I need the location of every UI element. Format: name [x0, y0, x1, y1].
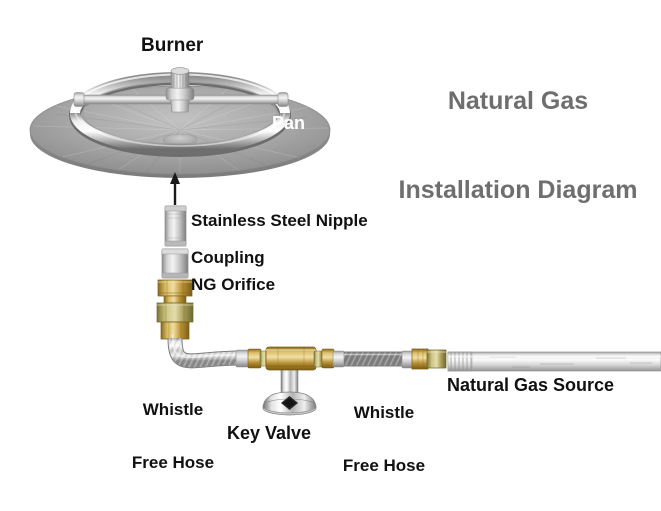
- label-whistle-free-hose-right: Whistle Free Hose: [330, 368, 438, 511]
- label-hose-left-line-2: Free Hose: [118, 454, 228, 472]
- label-pan: Pan: [272, 113, 305, 134]
- key-valve-graphic: [263, 347, 316, 415]
- label-coupling: Coupling: [191, 249, 265, 267]
- whistle-free-hose-right-graphic: [314, 349, 446, 369]
- label-hose-right-line-1: Whistle: [330, 404, 438, 422]
- natural-gas-source-pipe-graphic: [448, 352, 661, 371]
- label-key-valve: Key Valve: [227, 424, 311, 443]
- whistle-free-hose-left-graphic: [173, 335, 270, 369]
- ng-orifice-graphic: [157, 280, 193, 339]
- label-hose-right-line-2: Free Hose: [330, 457, 438, 475]
- label-natural-gas-source: Natural Gas Source: [447, 376, 614, 395]
- page-title-line-2: Installation Diagram: [392, 176, 644, 206]
- label-hose-left-line-1: Whistle: [118, 401, 228, 419]
- stainless-steel-nipple-graphic: [165, 206, 186, 246]
- label-ng-orifice: NG Orifice: [191, 276, 275, 294]
- label-burner: Burner: [141, 36, 203, 56]
- label-stainless-steel-nipple: Stainless Steel Nipple: [191, 212, 368, 230]
- page-title: Natural Gas Installation Diagram: [392, 28, 644, 264]
- diagram-canvas: Natural Gas Installation Diagram Burner …: [0, 0, 661, 472]
- page-title-line-1: Natural Gas: [392, 87, 644, 117]
- coupling-graphic: [162, 249, 188, 278]
- label-whistle-free-hose-left: Whistle Free Hose: [118, 365, 228, 508]
